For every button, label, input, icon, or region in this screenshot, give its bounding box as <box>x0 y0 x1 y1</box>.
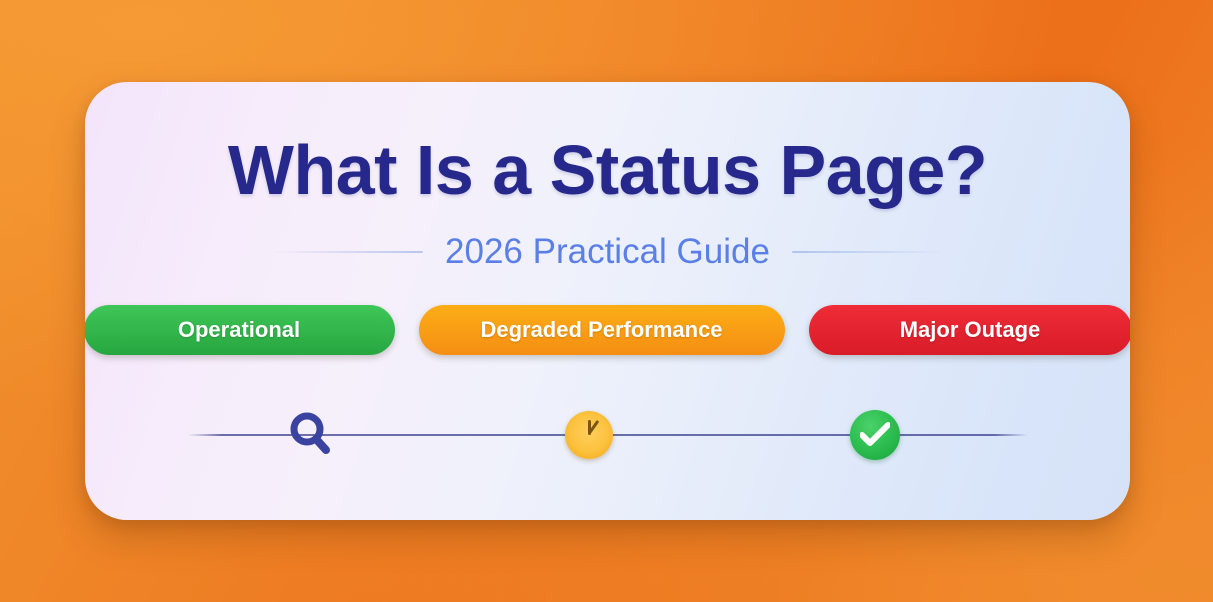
timeline-label-investigating: Investigating <box>258 518 404 520</box>
timeline-label-resolved: Resolved <box>849 518 957 520</box>
status-pill-group: Operational Degraded Performance Major O… <box>85 305 1130 355</box>
subtitle-rule-left <box>275 251 423 253</box>
incident-timeline <box>188 392 1028 492</box>
timeline-node-investigating[interactable] <box>280 404 342 466</box>
magnifier-icon <box>283 407 339 463</box>
timeline-node-monitoring[interactable] <box>558 404 620 466</box>
status-badge-major-outage[interactable]: Major Outage <box>809 305 1131 355</box>
page-title: What Is a Status Page? <box>85 130 1130 210</box>
page-subtitle: 2026 Practical Guide <box>445 232 770 272</box>
subtitle-row: 2026 Practical Guide <box>85 232 1130 272</box>
check-circle-icon <box>850 410 900 460</box>
timeline-node-resolved[interactable] <box>844 404 906 466</box>
clock-icon <box>565 411 613 459</box>
timeline-label-row: Investigating Monitoring Resolved <box>85 518 1130 520</box>
status-badge-degraded-performance[interactable]: Degraded Performance <box>419 305 785 355</box>
infographic-card: What Is a Status Page? 2026 Practical Gu… <box>85 82 1130 520</box>
status-badge-operational[interactable]: Operational <box>85 305 395 355</box>
timeline-label-monitoring: Monitoring <box>566 518 687 520</box>
subtitle-rule-right <box>792 251 940 253</box>
